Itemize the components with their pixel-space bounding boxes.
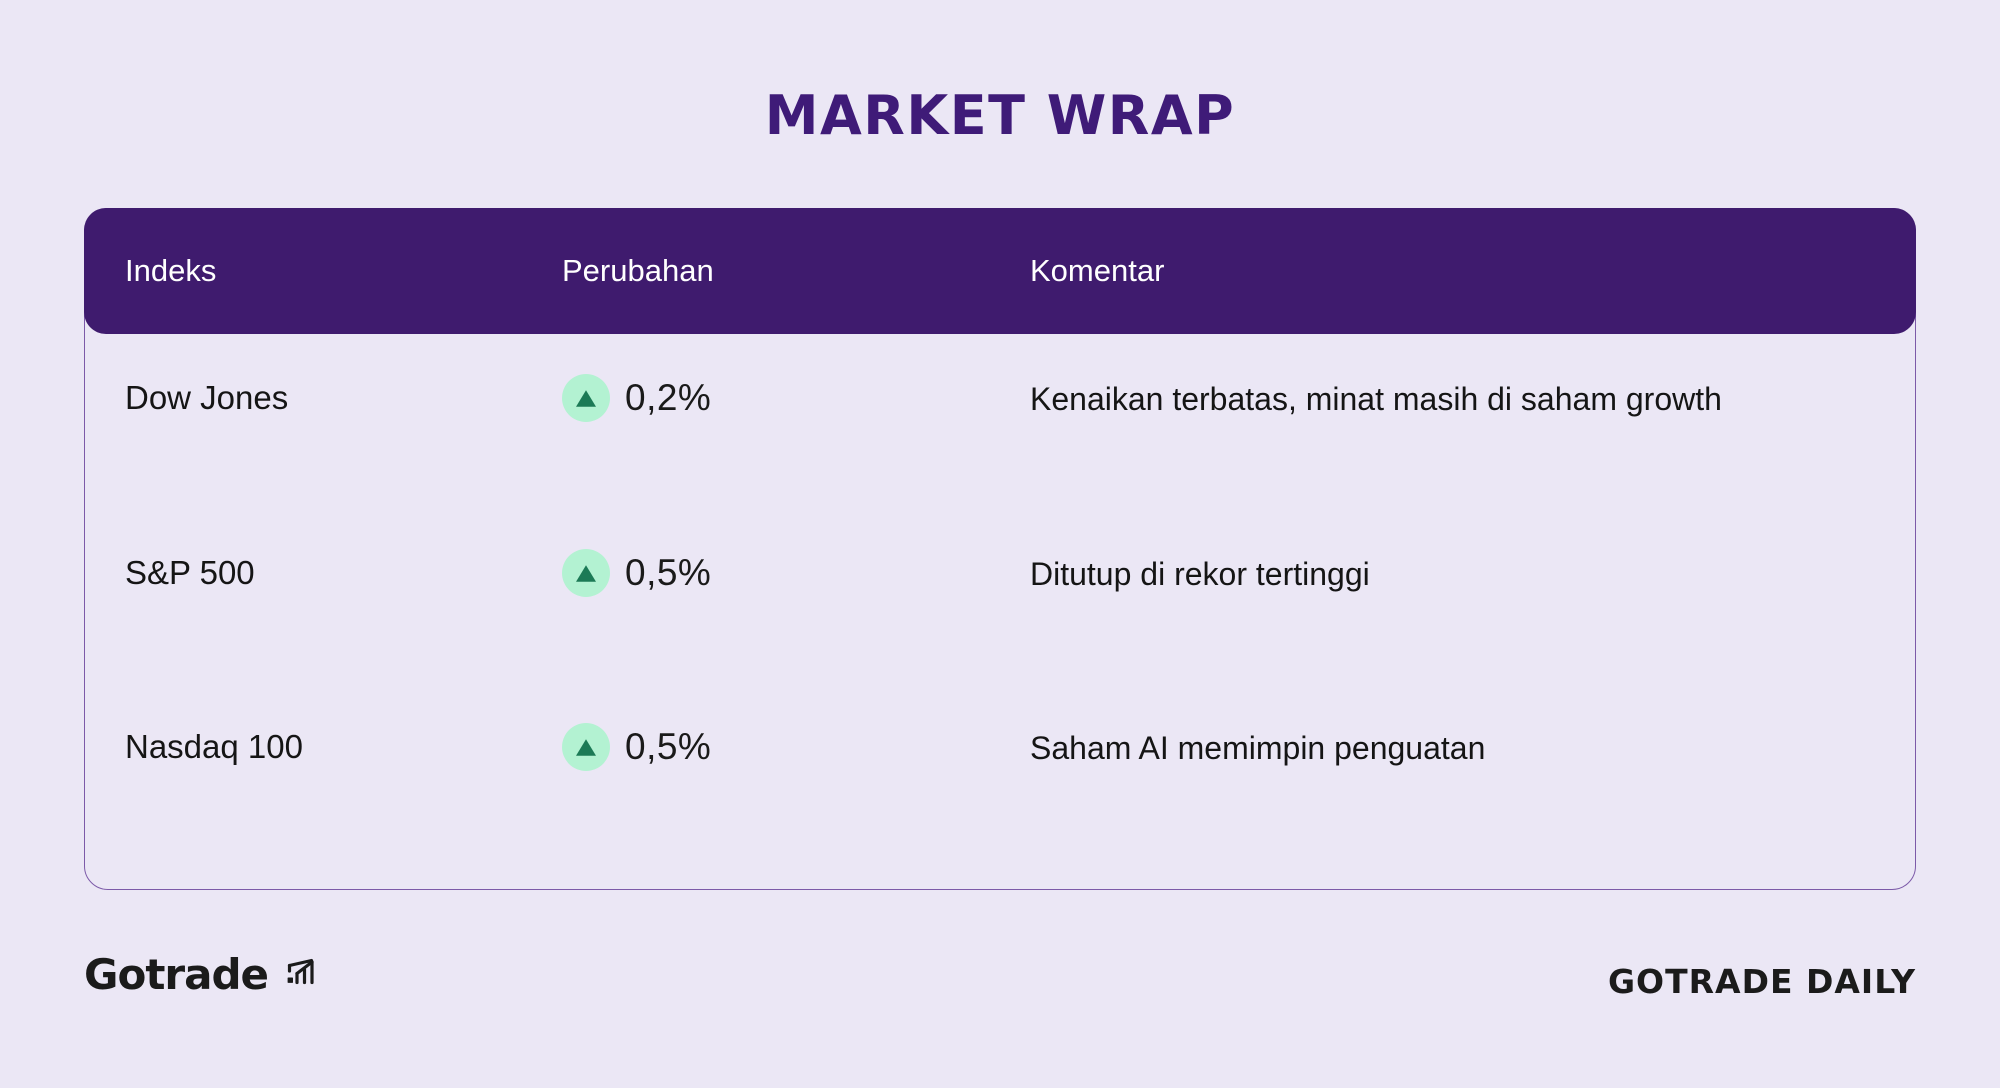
change-value: 0,5% xyxy=(625,726,711,768)
cell-comment: Saham AI memimpin penguatan xyxy=(1030,723,1760,774)
table-body: Dow Jones 0,2% Kenaikan terbatas, minat … xyxy=(84,334,1916,890)
page-title: MARKET WRAP xyxy=(0,84,2000,147)
cell-change: 0,2% xyxy=(562,374,711,422)
brand-wordmark: Gotrade xyxy=(84,950,268,999)
cell-index: Nasdaq 100 xyxy=(125,723,525,771)
brand-logo: Gotrade xyxy=(84,950,320,999)
arrow-up-icon xyxy=(562,549,610,597)
arrow-up-icon xyxy=(562,723,610,771)
daily-label: GOTRADE DAILY xyxy=(1608,962,1916,1001)
cell-comment: Kenaikan terbatas, minat masih di saham … xyxy=(1030,374,1760,425)
cell-change: 0,5% xyxy=(562,723,711,771)
table-row: Nasdaq 100 0,5% Saham AI memimpin pengua… xyxy=(84,723,1916,843)
column-header-change: Perubahan xyxy=(562,253,714,289)
market-wrap-page: MARKET WRAP Indeks Perubahan Komentar Do… xyxy=(0,0,2000,1088)
cell-change: 0,5% xyxy=(562,549,711,597)
table-header-row: Indeks Perubahan Komentar xyxy=(84,208,1916,334)
arrow-up-icon xyxy=(562,374,610,422)
gotrade-bars-icon xyxy=(280,952,320,997)
market-table-card: Indeks Perubahan Komentar Dow Jones 0,2%… xyxy=(84,208,1916,890)
cell-index: S&P 500 xyxy=(125,549,525,597)
change-value: 0,2% xyxy=(625,377,711,419)
table-row: Dow Jones 0,2% Kenaikan terbatas, minat … xyxy=(84,374,1916,494)
column-header-comment: Komentar xyxy=(1030,253,1164,289)
table-row: S&P 500 0,5% Ditutup di rekor tertinggi xyxy=(84,549,1916,669)
change-value: 0,5% xyxy=(625,552,711,594)
column-header-index: Indeks xyxy=(125,253,216,289)
cell-comment: Ditutup di rekor tertinggi xyxy=(1030,549,1760,600)
cell-index: Dow Jones xyxy=(125,374,525,422)
